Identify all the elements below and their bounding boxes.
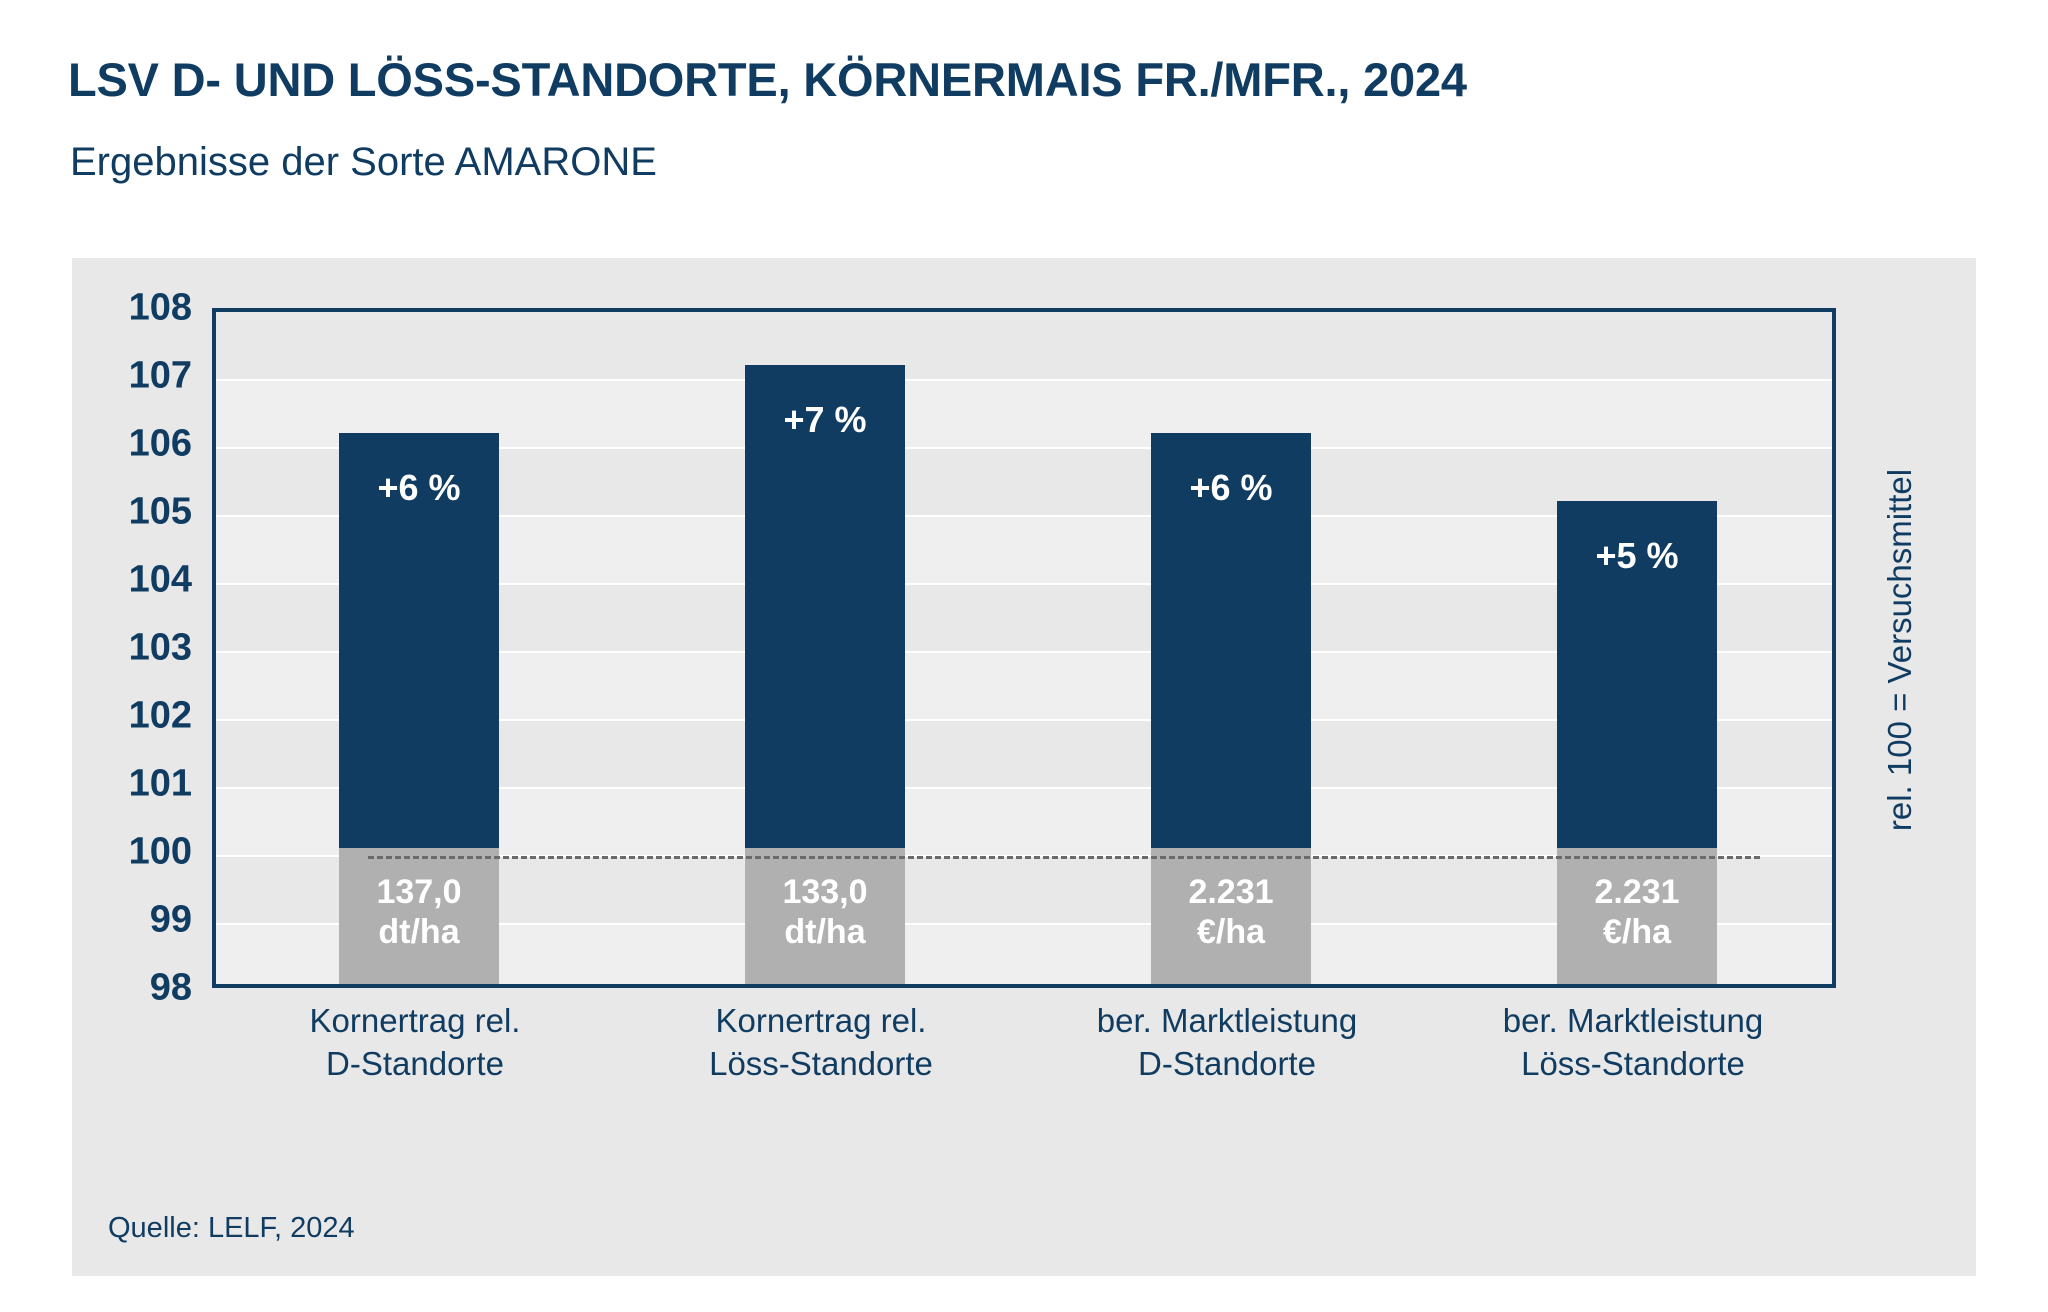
x-axis-labels: Kornertrag rel.D-StandorteKornertrag rel… (212, 1000, 1836, 1110)
y-tick-label: 99 (72, 899, 192, 942)
y-tick-label: 101 (72, 763, 192, 806)
y-tick-label: 107 (72, 355, 192, 398)
x-axis-category-label: ber. MarktleistungD-Standorte (1024, 1000, 1430, 1086)
bar-percent-label: +6 % (339, 467, 499, 509)
x-label-line1: Kornertrag rel. (618, 1000, 1024, 1043)
page-subtitle: Ergebnisse der Sorte AMARONE (70, 140, 657, 185)
x-label-line2: Löss-Standorte (618, 1043, 1024, 1086)
page-title: LSV D- UND LÖSS-STANDORTE, KÖRNERMAIS FR… (68, 52, 1467, 107)
x-label-line2: D-Standorte (1024, 1043, 1430, 1086)
bar-value-segment[interactable]: +5 % (1557, 501, 1717, 848)
x-label-line2: D-Standorte (212, 1043, 618, 1086)
bar-value-segment[interactable]: +7 % (745, 365, 905, 848)
bar-base-segment[interactable]: 133,0dt/ha (745, 848, 905, 984)
y-tick-label: 102 (72, 695, 192, 738)
bar-absolute-value: 2.231€/ha (1557, 872, 1717, 952)
reference-line-100 (368, 856, 1760, 859)
bar-group[interactable]: 2.231€/ha+5 % (1557, 308, 1717, 984)
bar-value-segment[interactable]: +6 % (339, 433, 499, 848)
bar-absolute-value-line2: €/ha (1151, 912, 1311, 952)
bar-base-segment[interactable]: 2.231€/ha (1151, 848, 1311, 984)
y-tick-label: 100 (72, 831, 192, 874)
bar-absolute-value-line2: dt/ha (745, 912, 905, 952)
bar-base-segment[interactable]: 137,0dt/ha (339, 848, 499, 984)
bar-absolute-value: 133,0dt/ha (745, 872, 905, 952)
bar-absolute-value-line2: dt/ha (339, 912, 499, 952)
y-tick-label: 98 (72, 967, 192, 1010)
source-note: Quelle: LELF, 2024 (108, 1212, 355, 1245)
x-axis-category-label: Kornertrag rel.D-Standorte (212, 1000, 618, 1086)
bar-absolute-value-line1: 137,0 (339, 872, 499, 912)
bar-percent-label: +6 % (1151, 467, 1311, 509)
bar-absolute-value: 2.231€/ha (1151, 872, 1311, 952)
bar-absolute-value-line2: €/ha (1557, 912, 1717, 952)
x-axis-category-label: Kornertrag rel.Löss-Standorte (618, 1000, 1024, 1086)
bar-absolute-value-line1: 133,0 (745, 872, 905, 912)
x-label-line1: Kornertrag rel. (212, 1000, 618, 1043)
bar-percent-label: +5 % (1557, 535, 1717, 577)
bar-base-segment[interactable]: 2.231€/ha (1557, 848, 1717, 984)
y-tick-label: 103 (72, 627, 192, 670)
y-axis-title-right: rel. 100 = Versuchsmittel (1881, 300, 1919, 1000)
y-tick-label: 108 (72, 287, 192, 330)
y-tick-label: 105 (72, 491, 192, 534)
x-axis-category-label: ber. MarktleistungLöss-Standorte (1430, 1000, 1836, 1086)
y-tick-label: 106 (72, 423, 192, 466)
x-label-line2: Löss-Standorte (1430, 1043, 1836, 1086)
bar-value-segment[interactable]: +6 % (1151, 433, 1311, 848)
bar-absolute-value-line1: 2.231 (1557, 872, 1717, 912)
chart-page: LSV D- UND LÖSS-STANDORTE, KÖRNERMAIS FR… (0, 0, 2048, 1312)
x-label-line1: ber. Marktleistung (1024, 1000, 1430, 1043)
bar-group[interactable]: 137,0dt/ha+6 % (339, 308, 499, 984)
plot-area: 137,0dt/ha+6 %133,0dt/ha+7 %2.231€/ha+6 … (212, 308, 1836, 988)
bar-group[interactable]: 133,0dt/ha+7 % (745, 308, 905, 984)
x-label-line1: ber. Marktleistung (1430, 1000, 1836, 1043)
bar-group[interactable]: 2.231€/ha+6 % (1151, 308, 1311, 984)
y-tick-label: 104 (72, 559, 192, 602)
bar-percent-label: +7 % (745, 399, 905, 441)
y-axis-ticks: 1081071061051041031021011009998 (60, 308, 192, 988)
bar-absolute-value-line1: 2.231 (1151, 872, 1311, 912)
bar-absolute-value: 137,0dt/ha (339, 872, 499, 952)
